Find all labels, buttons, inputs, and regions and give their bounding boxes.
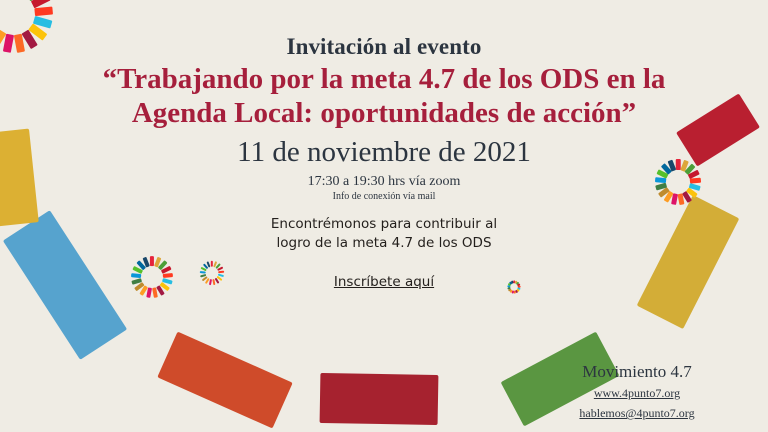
title-line-2: Agenda Local: oportunidades de acción” xyxy=(60,97,708,131)
event-kicker: Invitación al evento xyxy=(0,34,768,60)
organization-name: Movimiento 4.7 xyxy=(522,359,752,385)
event-description: Encontrémonos para contribuir al logro d… xyxy=(0,215,768,253)
event-date: 11 de noviembre de 2021 xyxy=(0,136,768,169)
website-link[interactable]: www.4punto7.org xyxy=(522,384,752,404)
title-line-1: “Trabajando por la meta 4.7 de los ODS e… xyxy=(60,63,708,97)
event-invitation-poster: Invitación al evento “Trabajando por la … xyxy=(0,0,768,432)
email-link[interactable]: hablemos@4punto7.org xyxy=(522,404,752,424)
page-title: “Trabajando por la meta 4.7 de los ODS e… xyxy=(60,63,708,131)
event-time: 17:30 a 19:30 hrs vía zoom xyxy=(0,174,768,190)
description-line-2: logro de la meta 4.7 de los ODS xyxy=(0,234,768,253)
description-line-1: Encontrémonos para contribuir al xyxy=(0,215,768,234)
connection-note: Info de conexión vía mail xyxy=(0,191,768,202)
footer: Movimiento 4.7 www.4punto7.org hablemos@… xyxy=(522,359,752,424)
register-link[interactable]: Inscríbete aquí xyxy=(0,274,768,290)
